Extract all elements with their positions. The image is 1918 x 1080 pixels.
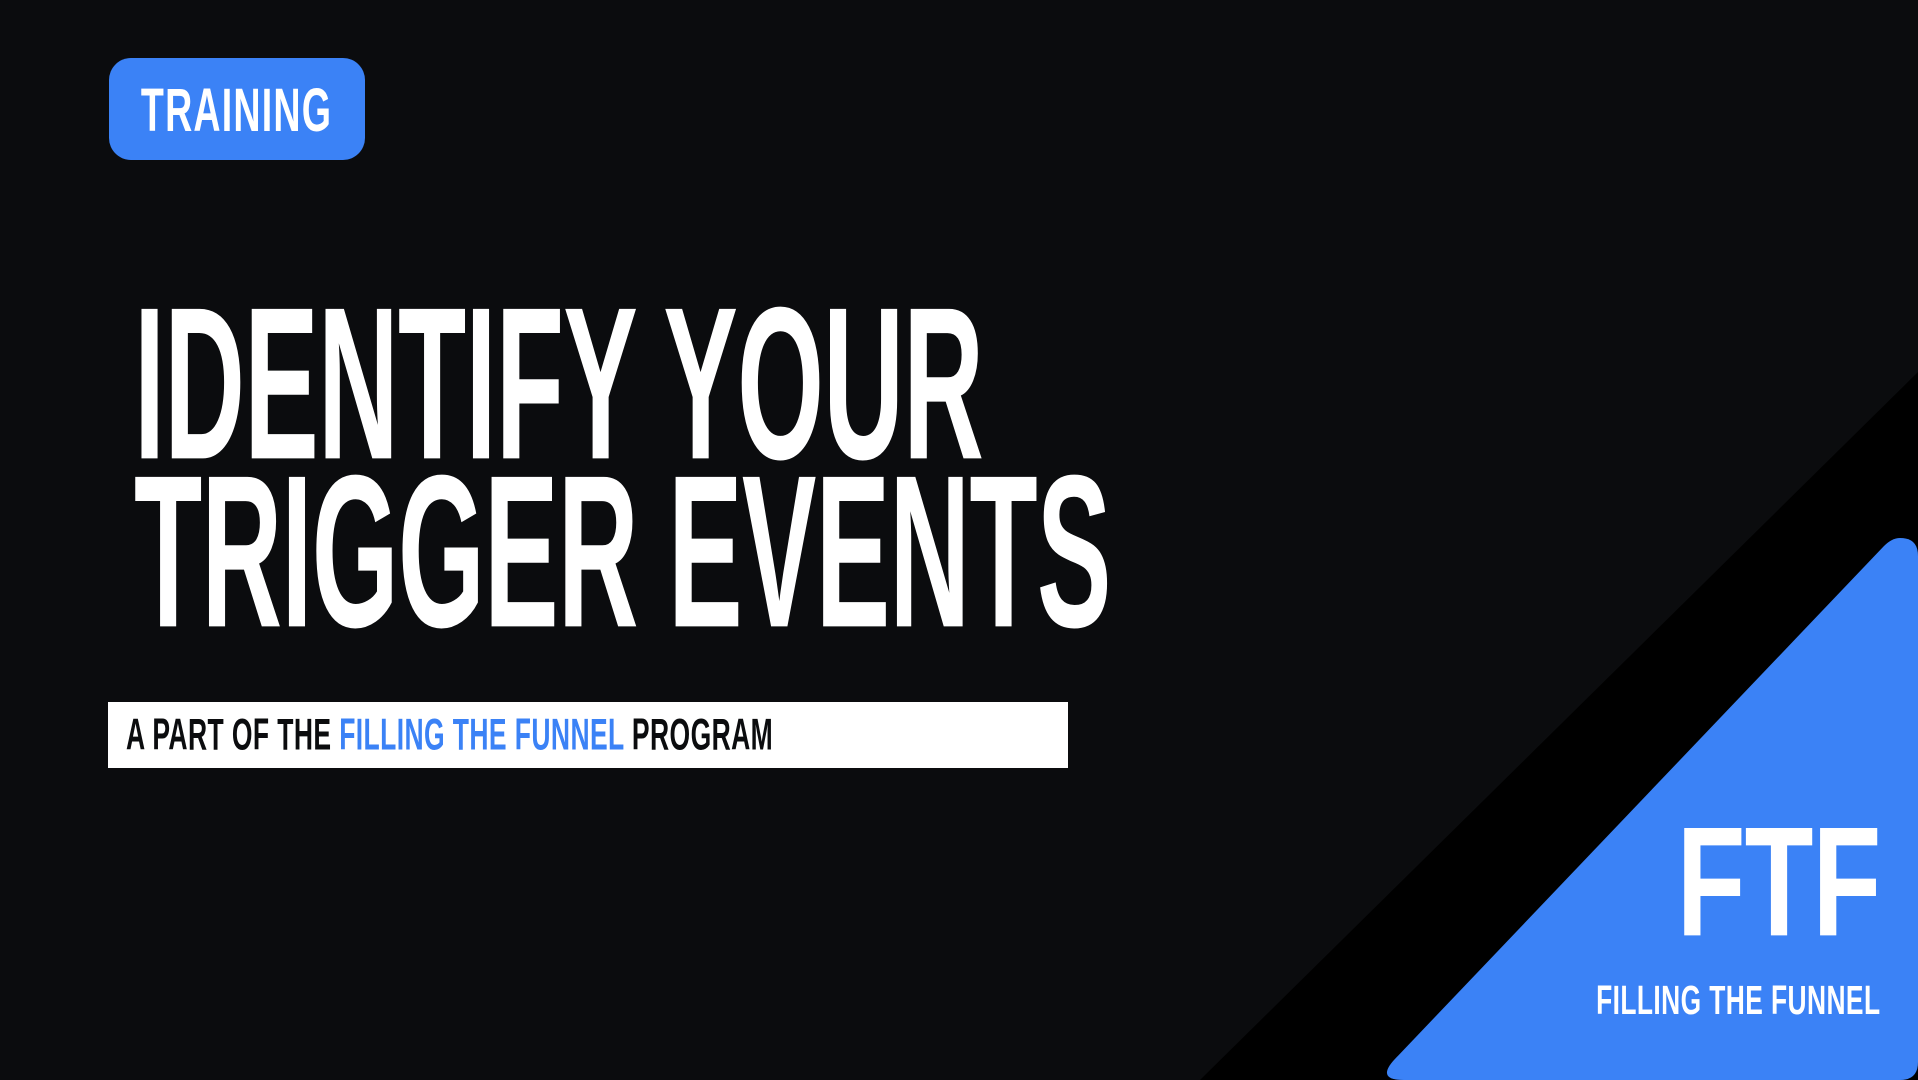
slide-canvas: TRAINING IDENTIFY YOUR TRIGGER EVENTS A … xyxy=(0,0,1918,1080)
subtitle-program-highlight: FILLING THE FUNNEL xyxy=(339,710,624,759)
ftf-logo-mark: FTF xyxy=(1567,805,1880,961)
training-badge: TRAINING xyxy=(109,58,365,160)
ftf-brand-logo: FTF FILLING THE FUNNEL xyxy=(1525,833,1880,1020)
subtitle-suffix: PROGRAM xyxy=(624,710,773,759)
subtitle-prefix: A PART OF THE xyxy=(126,710,339,759)
page-title-line-2: TRIGGER EVENTS xyxy=(134,432,943,672)
program-subtitle-text: A PART OF THE FILLING THE FUNNEL PROGRAM xyxy=(126,713,773,757)
ftf-logo-tagline: FILLING THE FUNNEL xyxy=(1596,979,1880,1020)
page-title: IDENTIFY YOUR TRIGGER EVENTS xyxy=(134,300,1234,636)
training-badge-label: TRAINING xyxy=(141,78,332,139)
program-subtitle-bar: A PART OF THE FILLING THE FUNNEL PROGRAM xyxy=(108,702,1068,768)
